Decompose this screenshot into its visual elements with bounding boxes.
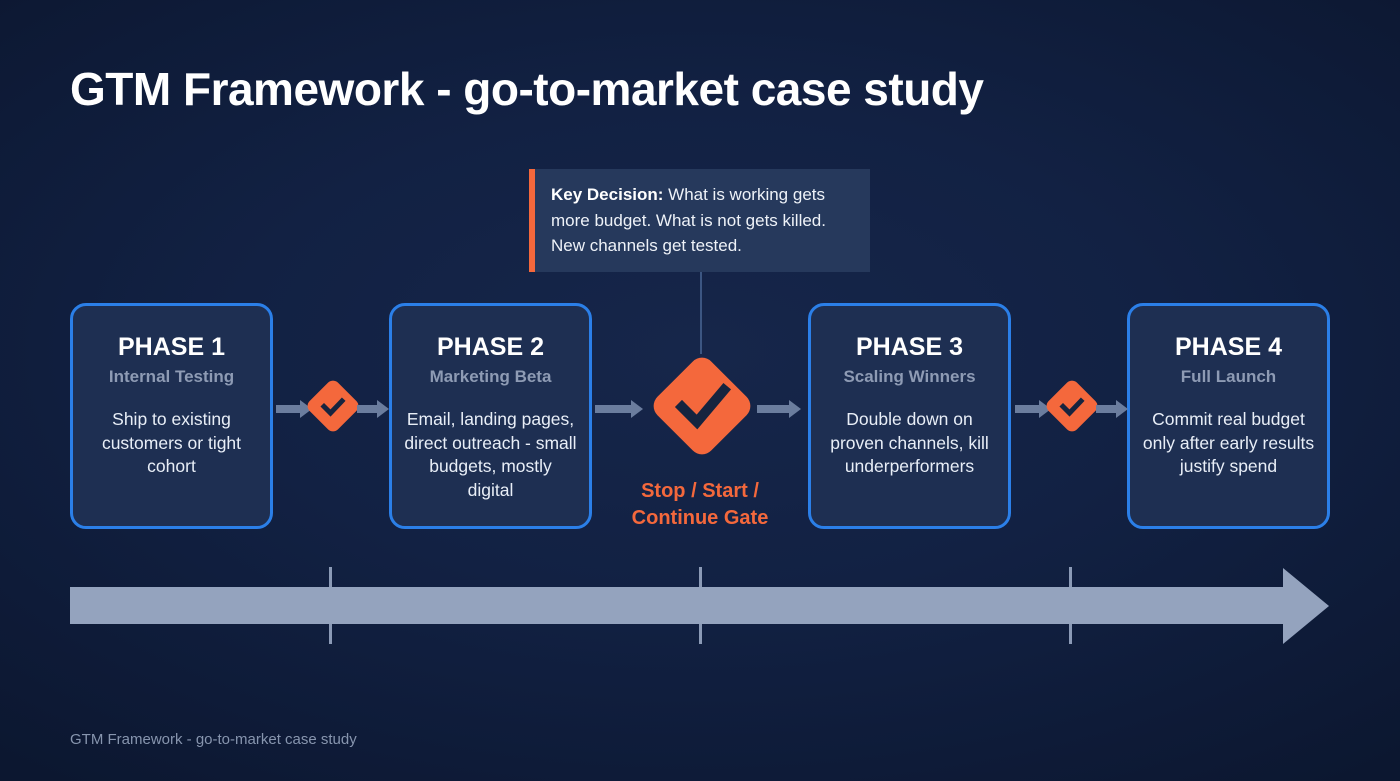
timeline-arrowhead [1283, 568, 1329, 644]
decision-gate-label-line1: Stop / Start / [590, 478, 810, 505]
check-icon [652, 356, 752, 456]
phase-card-title: PHASE 3 [811, 332, 1008, 362]
check-icon [1050, 384, 1094, 428]
timeline-tick-lower-1 [329, 623, 332, 644]
phase-card-subtitle: Marketing Beta [392, 366, 589, 388]
footer-caption: GTM Framework - go-to-market case study [70, 731, 357, 748]
key-decision-callout: Key Decision: What is working gets more … [529, 169, 870, 272]
phase-card-3[interactable]: PHASE 3 Scaling Winners Double down on p… [808, 303, 1011, 529]
timeline-tick-upper-3 [1069, 567, 1072, 588]
timeline-tick-lower-2 [699, 623, 702, 644]
connector-arrowhead-2 [631, 400, 643, 418]
phase-card-title: PHASE 2 [392, 332, 589, 362]
timeline-bar [70, 587, 1285, 624]
phase-card-title: PHASE 1 [73, 332, 270, 362]
connector-line-2 [595, 405, 633, 413]
connector-arrowhead-4b [1116, 400, 1128, 418]
connector-line-1b [357, 405, 379, 413]
connector-line-3 [757, 405, 791, 413]
connector-arrowhead-1b [377, 400, 389, 418]
slide-canvas: GTM Framework - go-to-market case study … [0, 0, 1400, 781]
decision-gate-label-line2: Continue Gate [590, 505, 810, 532]
phase-card-body: Commit real budget only after early resu… [1130, 408, 1327, 479]
check-icon [311, 384, 355, 428]
phase-card-body: Email, landing pages, direct outreach - … [392, 408, 589, 502]
phase-card-2[interactable]: PHASE 2 Marketing Beta Email, landing pa… [389, 303, 592, 529]
key-decision-text: Key Decision: What is working gets more … [551, 182, 854, 259]
phase-card-subtitle: Full Launch [1130, 366, 1327, 388]
phase-card-title: PHASE 4 [1130, 332, 1327, 362]
key-decision-label: Key Decision: [551, 185, 663, 204]
phase-card-4[interactable]: PHASE 4 Full Launch Commit real budget o… [1127, 303, 1330, 529]
page-title: GTM Framework - go-to-market case study [70, 62, 983, 116]
connector-line-4a [1015, 405, 1041, 413]
phase-card-body: Double down on proven channels, kill und… [811, 408, 1008, 479]
connector-arrowhead-3 [789, 400, 801, 418]
timeline-tick-upper-2 [699, 567, 702, 588]
phase-card-subtitle: Scaling Winners [811, 366, 1008, 388]
connector-line-4b [1096, 405, 1118, 413]
connector-line-1a [276, 405, 302, 413]
timeline-tick-upper-1 [329, 567, 332, 588]
phase-card-subtitle: Internal Testing [73, 366, 270, 388]
phase-card-body: Ship to existing customers or tight coho… [73, 408, 270, 479]
phase-card-1[interactable]: PHASE 1 Internal Testing Ship to existin… [70, 303, 273, 529]
callout-connector-line [700, 272, 702, 354]
decision-gate-label: Stop / Start / Continue Gate [590, 478, 810, 532]
timeline-tick-lower-3 [1069, 623, 1072, 644]
